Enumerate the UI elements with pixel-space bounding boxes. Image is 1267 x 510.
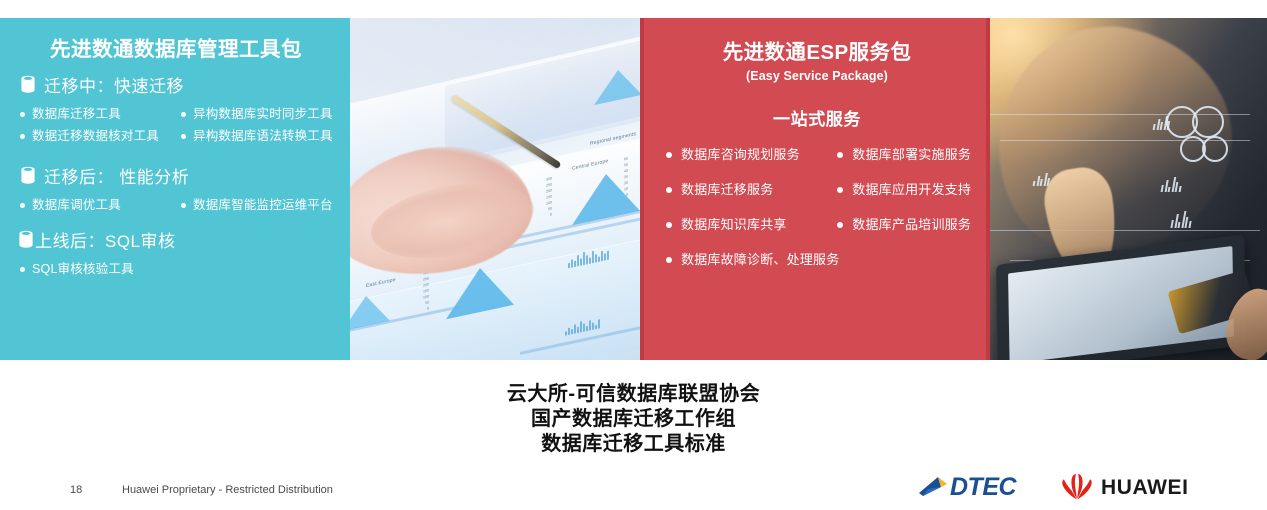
list-item-label: 数据迁移数据核对工具 [32, 128, 159, 144]
charts-photo: Regional segments Central Europe West Eu… [350, 18, 644, 360]
bullet-dot-icon [20, 203, 25, 208]
slide-canvas: 先进数通数据库管理工具包 迁移中：快速迁移 数据库迁移工具 [0, 0, 1267, 510]
red-panel-items: 数据库咨询规划服务 数据库部署实施服务 数据库迁移服务 数据库应用开发支持 [654, 146, 980, 268]
cyan-section-heading-post-launch: 上线后：SQL审核 [18, 227, 340, 252]
photo-hud-ring [1192, 106, 1224, 138]
caption-line-1: 云大所-可信数据库联盟协会 [0, 382, 1267, 407]
banner-strip: 先进数通数据库管理工具包 迁移中：快速迁移 数据库迁移工具 [0, 18, 1267, 360]
bullet-dot-icon [20, 267, 25, 272]
page-number: 18 [70, 484, 82, 496]
cyan-section-items-post-migration: 数据库调优工具 数据库智能监控运维平台 [12, 197, 340, 213]
bullet-dot-icon [837, 187, 843, 193]
list-item-label: 数据库智能监控运维平台 [193, 197, 333, 213]
huawei-flower-icon [1060, 473, 1094, 501]
list-item-label: 数据库知识库共享 [681, 216, 787, 233]
list-item: 数据库智能监控运维平台 [179, 197, 340, 213]
bullet-dot-icon [837, 152, 843, 158]
caption-line-3: 数据库迁移工具标准 [0, 432, 1267, 457]
list-item-label: 数据库调优工具 [32, 197, 121, 213]
confidentiality-notice: Huawei Proprietary - Restricted Distribu… [122, 484, 333, 496]
dtec-arrow-icon [918, 476, 948, 498]
bullet-dot-icon [666, 222, 672, 228]
list-row: SQL审核核验工具 [12, 261, 340, 277]
tablet-photo [990, 18, 1267, 360]
bullet-dot-icon [666, 257, 672, 263]
list-row: 数据库知识库共享 数据库产品培训服务 [654, 216, 980, 233]
list-row: 数据迁移数据核对工具 异构数据库语法转换工具 [12, 128, 340, 144]
list-item: 数据库产品培训服务 [837, 216, 980, 233]
cyan-section-items-migrating: 数据库迁移工具 异构数据库实时同步工具 数据迁移数据核对工具 异构数据库语法转换… [12, 106, 340, 144]
bullet-dot-icon [20, 134, 25, 139]
database-icon [20, 166, 36, 185]
bullet-dot-icon [20, 112, 25, 117]
photo-hud-ring [1202, 136, 1228, 162]
list-item: 异构数据库语法转换工具 [179, 128, 340, 144]
bullet-dot-icon [666, 187, 672, 193]
list-item-label: 数据库咨询规划服务 [681, 146, 800, 163]
dtec-logo: DTEC [918, 472, 1042, 502]
list-item-label: 异构数据库语法转换工具 [193, 128, 333, 144]
photo-hud-bars [1153, 114, 1172, 130]
list-item: 数据库调优工具 [12, 197, 179, 213]
dtec-wordmark: DTEC [950, 475, 1016, 500]
list-item: 数据库迁移服务 [654, 181, 837, 198]
photo-chart-ticks: 300250200150100500 [423, 269, 429, 312]
list-row: 数据库迁移服务 数据库应用开发支持 [654, 181, 980, 198]
list-item-label: 数据库故障诊断、处理服务 [681, 251, 839, 268]
list-row: 数据库迁移工具 异构数据库实时同步工具 [12, 106, 340, 122]
huawei-wordmark: HUAWEI [1101, 477, 1189, 498]
red-panel-subtitle: (Easy Service Package) [654, 69, 980, 83]
bullet-dot-icon [666, 152, 672, 158]
cyan-section-label: 迁移后： 性能分析 [44, 163, 189, 188]
huawei-logo: HUAWEI [1060, 471, 1200, 503]
list-item-label: 异构数据库实时同步工具 [193, 106, 333, 122]
list-item-label: 数据库产品培训服务 [852, 216, 971, 233]
cyan-section-heading-post-migration: 迁移后： 性能分析 [20, 163, 340, 188]
list-row: 数据库咨询规划服务 数据库部署实施服务 [654, 146, 980, 163]
caption-block: 云大所-可信数据库联盟协会 国产数据库迁移工作组 数据库迁移工具标准 [0, 382, 1267, 457]
red-panel-heading: 一站式服务 [654, 105, 980, 130]
list-item: SQL审核核验工具 [12, 261, 340, 277]
list-item: 数据库迁移工具 [12, 106, 179, 122]
red-panel-title: 先进数通ESP服务包 [654, 40, 980, 66]
photo-chart-ticks: 300250200150100500 [546, 175, 552, 218]
list-item: 数据库故障诊断、处理服务 [654, 251, 980, 268]
list-row: 数据库故障诊断、处理服务 [654, 251, 980, 268]
list-item-label: SQL审核核验工具 [32, 261, 134, 277]
cyan-section-label: 上线后：SQL审核 [35, 227, 176, 252]
cyan-section-label: 迁移中：快速迁移 [44, 72, 184, 97]
list-item: 数据库咨询规划服务 [654, 146, 837, 163]
list-item-label: 数据库应用开发支持 [852, 181, 971, 198]
photo-hud-line [990, 230, 1260, 231]
list-item: 数据迁移数据核对工具 [12, 128, 179, 144]
spacer [12, 150, 340, 163]
photo-hud-bars [1170, 210, 1193, 228]
list-item-label: 数据库迁移工具 [32, 106, 121, 122]
list-item: 数据库知识库共享 [654, 216, 837, 233]
database-icon [20, 75, 36, 94]
bullet-dot-icon [181, 203, 186, 208]
cyan-section-heading-migrating: 迁移中：快速迁移 [20, 72, 340, 97]
list-item: 异构数据库实时同步工具 [179, 106, 340, 122]
list-item-label: 数据库部署实施服务 [852, 146, 971, 163]
list-item: 数据库部署实施服务 [837, 146, 980, 163]
photo-hud-bars [1161, 176, 1183, 192]
cyan-panel-title: 先进数通数据库管理工具包 [12, 38, 340, 63]
red-panel-esp-service: 先进数通ESP服务包 (Easy Service Package) 一站式服务 … [644, 18, 990, 360]
caption-line-2: 国产数据库迁移工作组 [0, 407, 1267, 432]
database-icon [18, 230, 34, 249]
bullet-dot-icon [181, 134, 186, 139]
list-item: 数据库应用开发支持 [837, 181, 980, 198]
bullet-dot-icon [181, 112, 186, 117]
cyan-panel-database-toolkit: 先进数通数据库管理工具包 迁移中：快速迁移 数据库迁移工具 [0, 18, 350, 360]
bullet-dot-icon [837, 222, 843, 228]
list-item-label: 数据库迁移服务 [681, 181, 773, 198]
cyan-section-items-post-launch: SQL审核核验工具 [12, 261, 340, 277]
spacer [12, 219, 340, 227]
list-row: 数据库调优工具 数据库智能监控运维平台 [12, 197, 340, 213]
